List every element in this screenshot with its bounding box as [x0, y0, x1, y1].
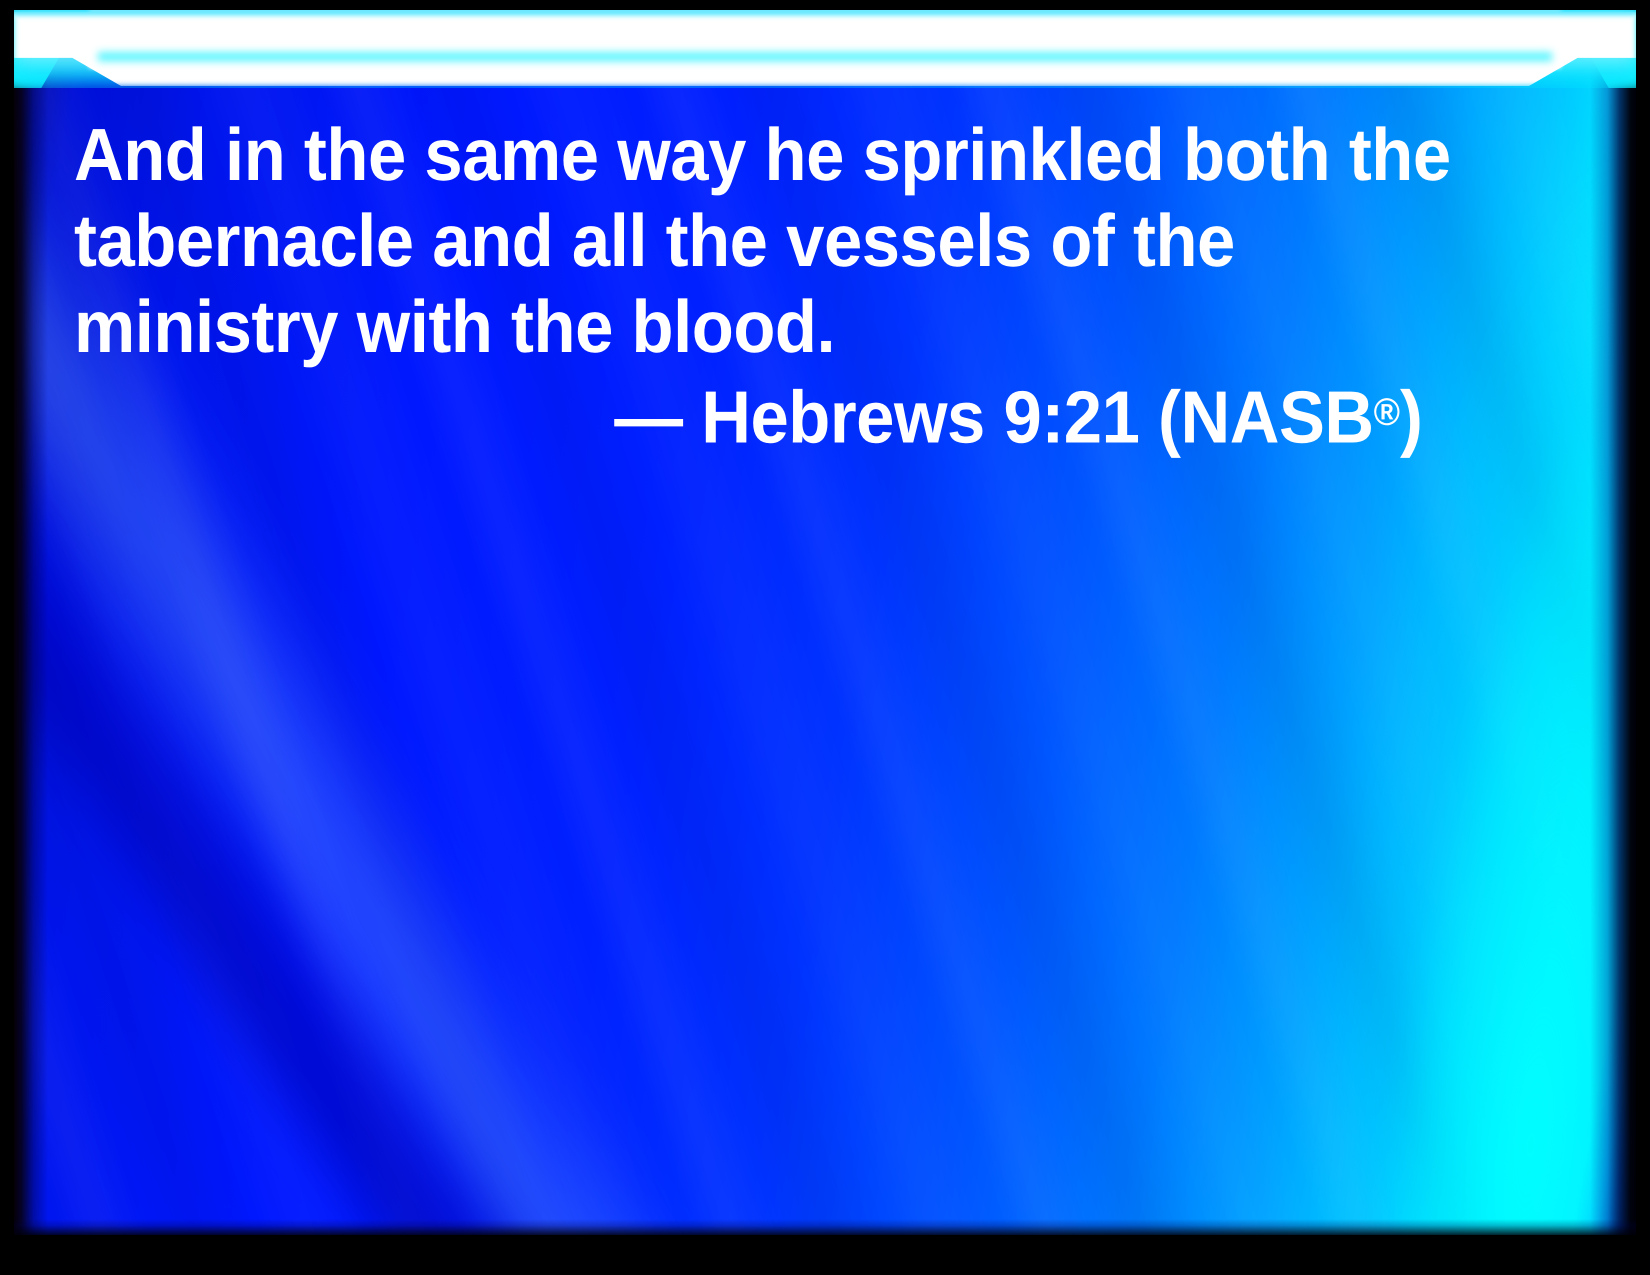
attribution-space-1 [683, 376, 702, 459]
attribution-translation-close: ) [1400, 376, 1422, 459]
registered-trademark-icon: ® [1374, 391, 1400, 434]
verse-line-2: tabernacle and all the vessels of the [74, 198, 1432, 284]
verse-text-block: And in the same way he sprinkled both th… [74, 112, 1432, 461]
attribution-reference: 9:21 [1004, 376, 1140, 459]
verse-line-1: And in the same way he sprinkled both th… [74, 112, 1432, 198]
verse-line-3: ministry with the blood. [74, 284, 1432, 370]
attribution-em-dash: — [614, 376, 682, 459]
attribution-space-3 [1139, 376, 1158, 459]
attribution-space-2 [985, 376, 1004, 459]
verse-attribution: — Hebrews 9:21 (NASB®) [74, 370, 1432, 461]
attribution-translation-open: (NASB [1158, 376, 1374, 459]
attribution-book: Hebrews [701, 376, 985, 459]
slide-text-layer: And in the same way he sprinkled both th… [0, 0, 1650, 1275]
scripture-slide: And in the same way he sprinkled both th… [0, 0, 1650, 1275]
